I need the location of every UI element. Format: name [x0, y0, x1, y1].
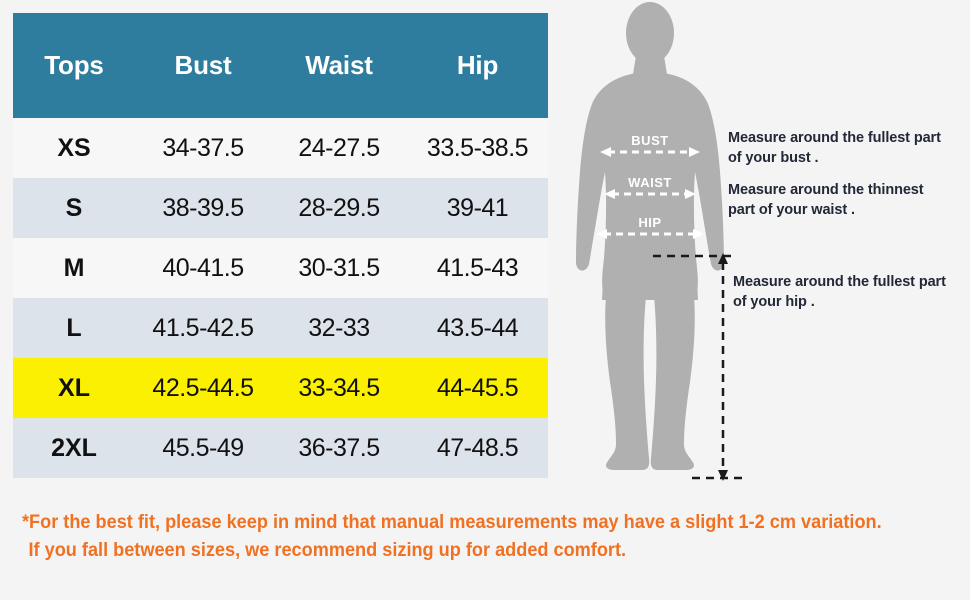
footnote: *For the best fit, please keep in mind t…: [22, 508, 896, 564]
cell-size: XL: [13, 358, 135, 418]
cell-bust: 41.5-42.5: [135, 298, 271, 358]
table-row: XS 34-37.5 24-27.5 33.5-38.5: [13, 118, 548, 178]
cell-bust: 42.5-44.5: [135, 358, 271, 418]
cell-waist: 36-37.5: [271, 418, 407, 478]
cell-bust: 40-41.5: [135, 238, 271, 298]
table-head: Tops Bust Waist Hip: [13, 13, 548, 118]
cell-size: M: [13, 238, 135, 298]
bust-measure-label: BUST: [631, 133, 668, 148]
table-row-highlighted: XL 42.5-44.5 33-34.5 44-45.5: [13, 358, 548, 418]
cell-hip: 43.5-44: [407, 298, 548, 358]
cell-bust: 34-37.5: [135, 118, 271, 178]
cell-size: 2XL: [13, 418, 135, 478]
body-silhouette-icon: [576, 2, 724, 470]
table-row: L 41.5-42.5 32-33 43.5-44: [13, 298, 548, 358]
table-row: S 38-39.5 28-29.5 39-41: [13, 178, 548, 238]
table-body: XS 34-37.5 24-27.5 33.5-38.5 S 38-39.5 2…: [13, 118, 548, 478]
cell-hip: 39-41: [407, 178, 548, 238]
waist-measure-label: WAIST: [628, 175, 672, 190]
hip-measure-label: HIP: [638, 215, 661, 230]
size-chart-table: Tops Bust Waist Hip XS 34-37.5 24-27.5 3…: [13, 13, 548, 478]
cell-bust: 45.5-49: [135, 418, 271, 478]
cell-waist: 24-27.5: [271, 118, 407, 178]
size-chart-page: Tops Bust Waist Hip XS 34-37.5 24-27.5 3…: [0, 0, 970, 600]
column-header-hip: Hip: [407, 13, 548, 118]
callout-waist-text: Measure around the thinnest part of your…: [728, 180, 953, 220]
table-row: M 40-41.5 30-31.5 41.5-43: [13, 238, 548, 298]
cell-size: L: [13, 298, 135, 358]
cell-hip: 41.5-43: [407, 238, 548, 298]
cell-waist: 28-29.5: [271, 178, 407, 238]
cell-size: XS: [13, 118, 135, 178]
column-header-tops: Tops: [13, 13, 135, 118]
table-header-row: Tops Bust Waist Hip: [13, 13, 548, 118]
column-header-waist: Waist: [271, 13, 407, 118]
cell-waist: 32-33: [271, 298, 407, 358]
callout-bust-text: Measure around the fullest part of your …: [728, 128, 948, 168]
table-row: 2XL 45.5-49 36-37.5 47-48.5: [13, 418, 548, 478]
column-header-bust: Bust: [135, 13, 271, 118]
cell-size: S: [13, 178, 135, 238]
footnote-line-1: *For the best fit, please keep in mind t…: [22, 508, 896, 536]
cell-hip: 47-48.5: [407, 418, 548, 478]
cell-hip: 33.5-38.5: [407, 118, 548, 178]
cell-waist: 33-34.5: [271, 358, 407, 418]
cell-waist: 30-31.5: [271, 238, 407, 298]
cell-hip: 44-45.5: [407, 358, 548, 418]
callout-hip-text: Measure around the fullest part of your …: [733, 272, 953, 312]
cell-bust: 38-39.5: [135, 178, 271, 238]
footnote-line-2: If you fall between sizes, we recommend …: [22, 536, 896, 564]
length-measure-arrow-icon: [718, 253, 728, 481]
